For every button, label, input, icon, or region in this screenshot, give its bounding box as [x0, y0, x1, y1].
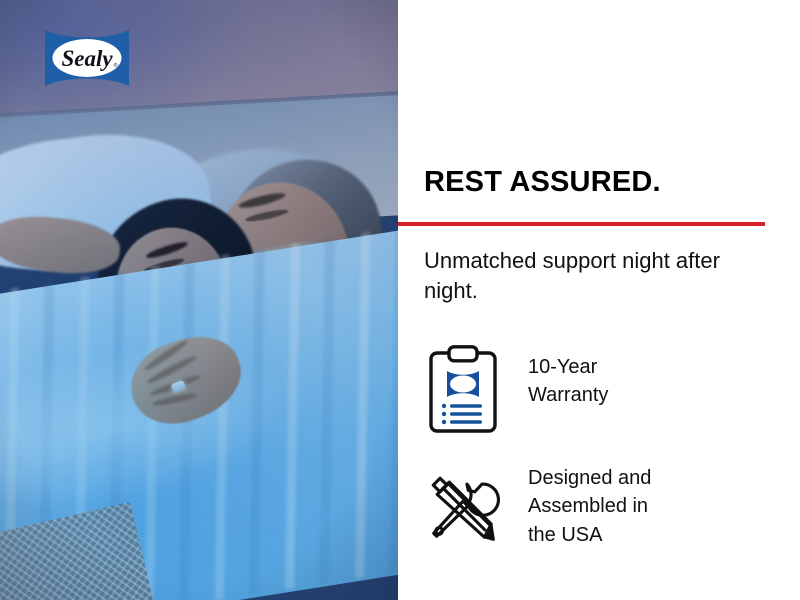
- feature-list: 10-Year Warranty: [424, 344, 774, 580]
- clipboard-warranty-icon: [424, 344, 502, 436]
- feature-item-warranty: 10-Year Warranty: [424, 344, 774, 436]
- subheading-text: Unmatched support night after night.: [424, 246, 724, 307]
- sealy-bowtie-logo: Sealy ®: [42, 25, 132, 91]
- content-panel: REST ASSURED. Unmatched support night af…: [398, 0, 800, 600]
- sleeping-couple-photo: Sealy ®: [0, 0, 398, 600]
- svg-text:Sealy: Sealy: [61, 46, 113, 71]
- sealy-advertisement-banner: Sealy ® REST ASSURED. Unmatched support …: [0, 0, 800, 600]
- red-divider-rule: [398, 222, 765, 226]
- svg-text:®: ®: [113, 62, 117, 69]
- pencil-wrench-icon: [424, 462, 502, 554]
- page-title: REST ASSURED.: [424, 166, 661, 199]
- feature-label-warranty: 10-Year Warranty: [502, 344, 608, 410]
- feature-label-made-in-usa: Designed and Assembled in the USA: [502, 462, 651, 549]
- feature-item-made-in-usa: Designed and Assembled in the USA: [424, 462, 774, 554]
